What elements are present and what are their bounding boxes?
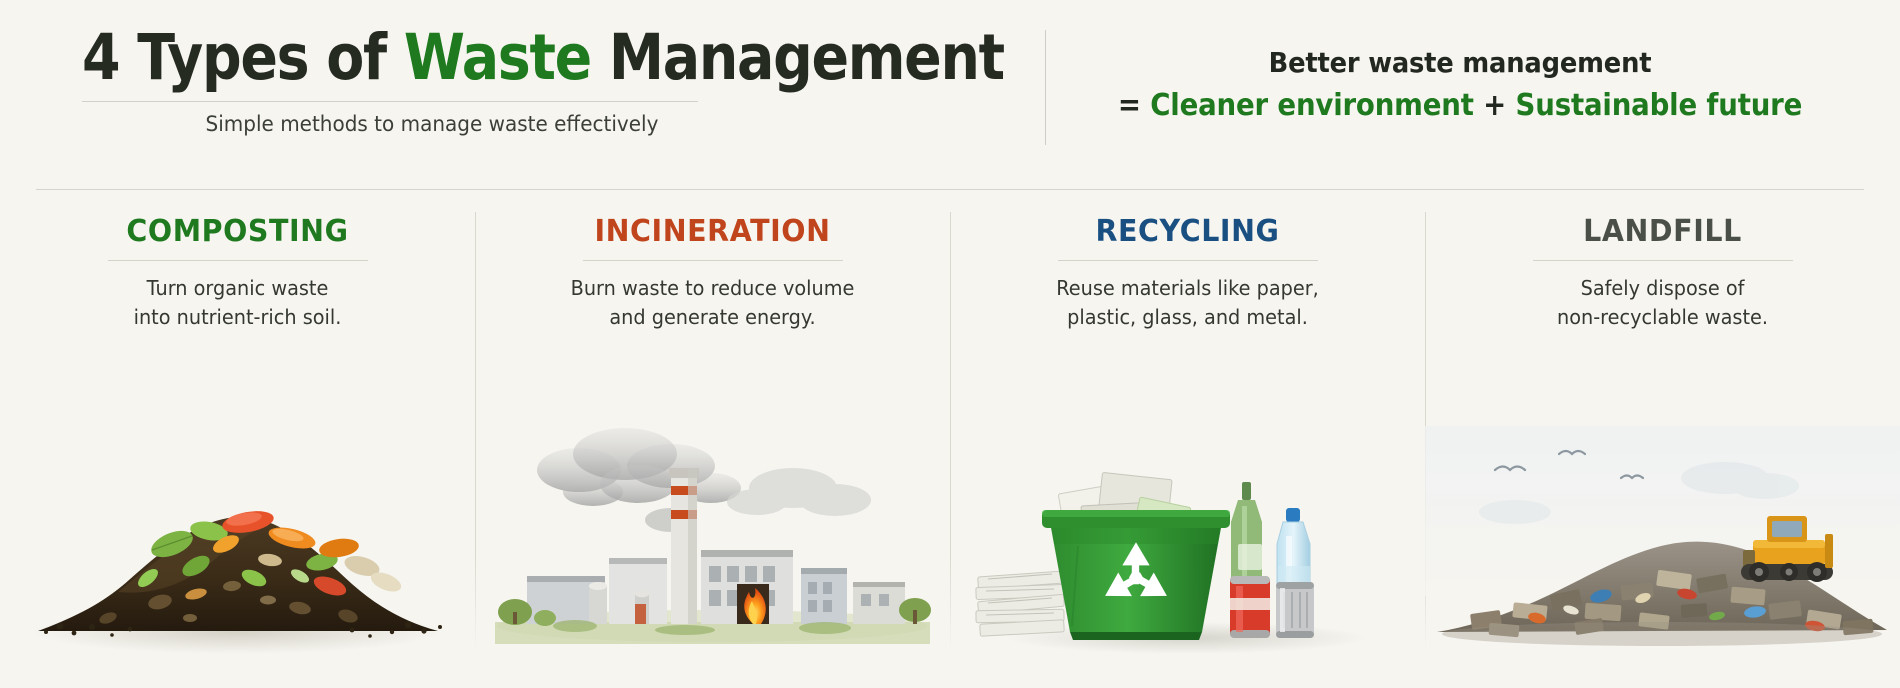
heading-recycling: RECYCLING — [962, 214, 1413, 249]
header-vertical-divider — [1045, 30, 1046, 145]
page-subtitle: Simple methods to manage waste effective… — [107, 112, 758, 137]
incineration-plant-illustration — [475, 426, 950, 666]
description-recycling: Reuse materials like paper, plastic, gla… — [964, 274, 1411, 332]
heading-composting: COMPOSTING — [12, 214, 463, 249]
description-line-2: non-recyclable waste. — [1439, 303, 1886, 332]
header-left: 4 Types of Waste Management Simple metho… — [82, 26, 882, 137]
heading-landfill: LANDFILL — [1437, 214, 1888, 249]
column-composting: COMPOSTING Turn organic waste into nutri… — [0, 190, 475, 688]
heading-rule-recycling — [1058, 260, 1318, 261]
title-divider — [82, 101, 698, 102]
tagline-sustainable-future: Sustainable future — [1516, 88, 1803, 123]
method-columns: COMPOSTING Turn organic waste into nutri… — [0, 190, 1900, 688]
heading-incineration: INCINERATION — [487, 214, 938, 249]
header-tagline: Better waste management = Cleaner enviro… — [1080, 46, 1840, 123]
tagline-cleaner-environment: Cleaner environment — [1150, 88, 1474, 123]
description-landfill: Safely dispose of non-recyclable waste. — [1439, 274, 1886, 332]
heading-rule-landfill — [1533, 260, 1793, 261]
column-landfill: LANDFILL Safely dispose of non-recyclabl… — [1425, 190, 1900, 688]
description-line-1: Burn waste to reduce volume — [489, 274, 936, 303]
title-part2: Management — [591, 21, 1004, 94]
tagline-line-1: Better waste management — [1110, 46, 1809, 79]
page-title: 4 Types of Waste Management — [82, 26, 786, 90]
column-recycling: RECYCLING Reuse materials like paper, pl… — [950, 190, 1425, 688]
description-line-1: Safely dispose of — [1439, 274, 1886, 303]
column-incineration: INCINERATION Burn waste to reduce volume… — [475, 190, 950, 688]
heading-rule-incineration — [583, 260, 843, 261]
title-part1: 4 Types of — [82, 21, 404, 94]
recycling-bin-illustration — [950, 426, 1425, 666]
compost-pile-illustration — [0, 426, 475, 666]
tagline-plus: + — [1474, 88, 1516, 123]
tagline-equals: = — [1118, 88, 1150, 123]
description-line-2: into nutrient-rich soil. — [14, 303, 461, 332]
description-line-1: Turn organic waste — [14, 274, 461, 303]
header: 4 Types of Waste Management Simple metho… — [0, 0, 1900, 150]
title-accent: Waste — [404, 21, 591, 94]
description-composting: Turn organic waste into nutrient-rich so… — [14, 274, 461, 332]
landfill-pile-illustration — [1425, 426, 1900, 666]
heading-rule-composting — [108, 260, 368, 261]
description-line-1: Reuse materials like paper, — [964, 274, 1411, 303]
tagline-line-2: = Cleaner environment + Sustainable futu… — [1110, 88, 1809, 123]
description-line-2: and generate energy. — [489, 303, 936, 332]
infographic-page: 4 Types of Waste Management Simple metho… — [0, 0, 1900, 688]
description-line-2: plastic, glass, and metal. — [964, 303, 1411, 332]
description-incineration: Burn waste to reduce volume and generate… — [489, 274, 936, 332]
